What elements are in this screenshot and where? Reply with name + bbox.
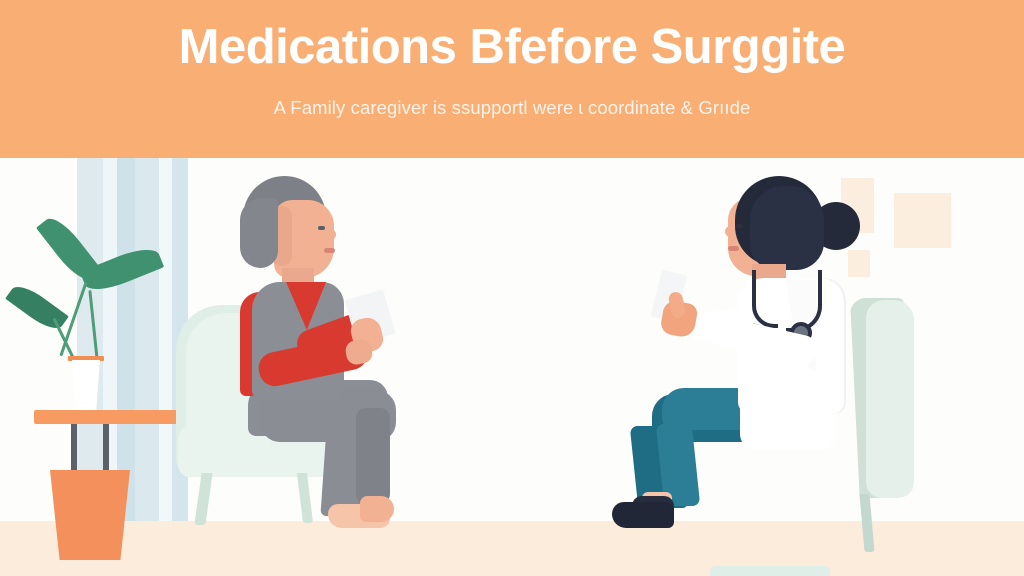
patient-hair-front xyxy=(240,198,278,268)
doctor-chair-seat xyxy=(710,566,830,576)
doctor-lip xyxy=(728,246,739,251)
doctor-eye xyxy=(736,224,743,228)
potted-plant xyxy=(10,238,190,523)
doctor-nose xyxy=(725,226,734,237)
patient-hand-lower xyxy=(344,338,374,366)
side-table-top xyxy=(34,410,180,424)
doctor-hair-side xyxy=(750,186,824,270)
patient-eye xyxy=(318,226,325,230)
illustration-canvas: Medications Bfefore Surggite A Family ca… xyxy=(0,0,1024,576)
patient-foot-front xyxy=(360,496,394,522)
seated-doctor xyxy=(600,174,900,534)
plant-stem-3 xyxy=(88,290,98,360)
stethoscope-tube-left xyxy=(752,270,778,328)
patient-nose xyxy=(327,229,336,240)
plant-leaf-3 xyxy=(80,242,164,297)
doctor-shoe-front xyxy=(612,502,674,528)
wall-poster-2 xyxy=(894,193,951,248)
header-banner: Medications Bfefore Surggite A Family ca… xyxy=(0,0,1024,158)
page-title: Medications Bfefore Surggite xyxy=(179,22,846,73)
seated-patient xyxy=(200,176,420,526)
room-background xyxy=(0,158,1024,576)
inner-pot xyxy=(72,360,100,412)
patient-shin-front xyxy=(356,408,390,504)
patient-lip xyxy=(324,248,335,253)
terracotta-pot xyxy=(50,470,130,560)
page-subtitle: A Family caregiver is ssupportl were ɩ c… xyxy=(274,97,751,119)
